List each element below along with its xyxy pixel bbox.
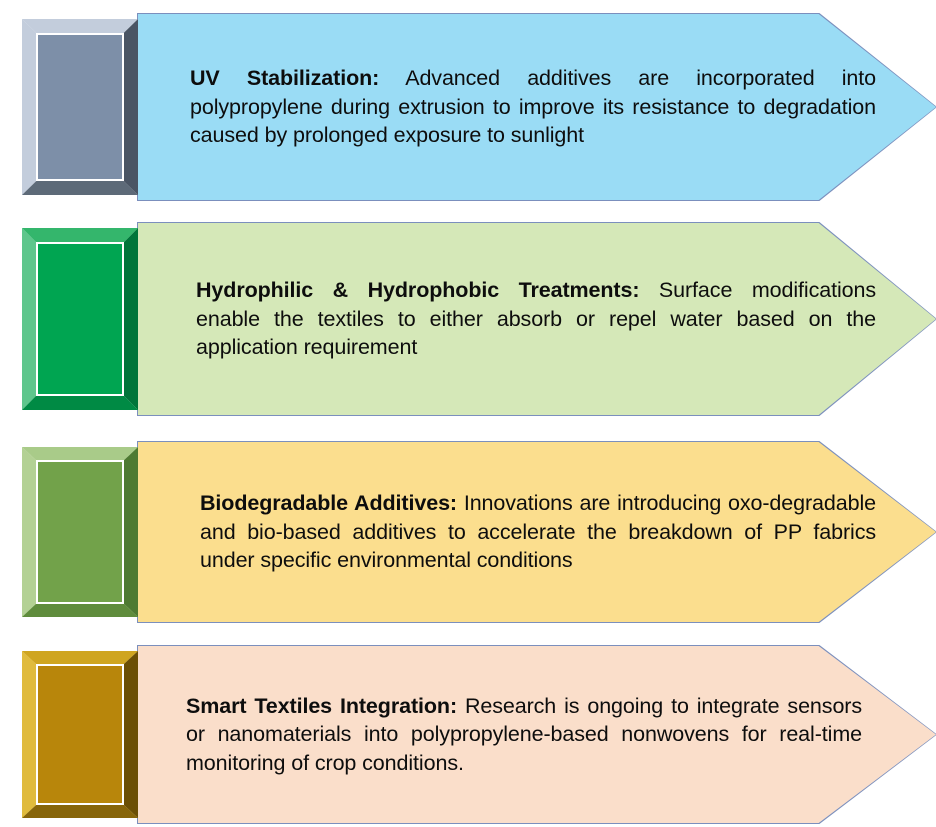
diagram-canvas: UV Stabilization: Advanced additives are… — [0, 0, 936, 827]
chevron-band-biodegradable-additives[interactable]: Biodegradable Additives: Innovations are… — [0, 442, 936, 622]
bevel-box-uv-stabilization — [22, 19, 138, 195]
chevron-lead-label: Biodegradable Additives: — [200, 491, 457, 515]
chevron-lead-label: Hydrophilic & Hydrophobic Treatments: — [196, 278, 639, 302]
chevron-text: Smart Textiles Integration: Research is … — [186, 692, 862, 778]
bevel-box-hydrophilic-hydrophobic-treatments — [22, 228, 138, 410]
chevron-lead-label: UV Stabilization: — [190, 66, 379, 90]
bevel-box-biodegradable-additives — [22, 447, 138, 617]
chevron-lead-label: Smart Textiles Integration: — [186, 694, 457, 718]
chevron-band-uv-stabilization[interactable]: UV Stabilization: Advanced additives are… — [0, 14, 936, 200]
bevel-inner-panel — [38, 666, 122, 803]
chevron-text: Hydrophilic & Hydrophobic Treatments: Su… — [196, 276, 876, 362]
bevel-inner-panel — [38, 462, 122, 601]
chevron-text: Biodegradable Additives: Innovations are… — [200, 489, 876, 575]
chevron-text: UV Stabilization: Advanced additives are… — [190, 64, 876, 150]
bevel-inner-panel — [38, 35, 122, 179]
chevron-band-smart-textiles-integration[interactable]: Smart Textiles Integration: Research is … — [0, 646, 936, 823]
bevel-box-smart-textiles-integration — [22, 651, 138, 818]
bevel-inner-panel — [38, 244, 122, 393]
chevron-band-hydrophilic-hydrophobic-treatments[interactable]: Hydrophilic & Hydrophobic Treatments: Su… — [0, 223, 936, 415]
